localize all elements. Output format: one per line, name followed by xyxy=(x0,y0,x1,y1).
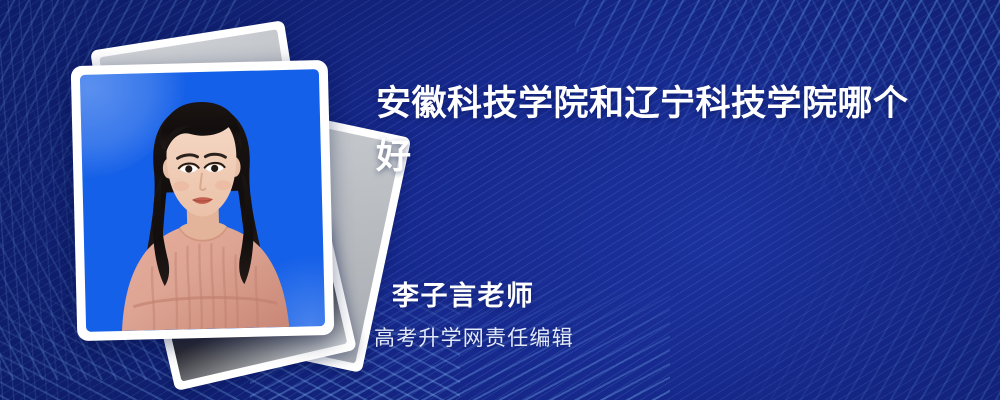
author-photo xyxy=(80,69,325,332)
author-photo-card xyxy=(71,60,335,341)
photo-card-stack xyxy=(46,22,346,367)
author-name: 李子言老师 xyxy=(392,274,535,313)
author-role: 高考升学网责任编辑 xyxy=(374,322,574,352)
avatar xyxy=(80,69,325,332)
article-headline: 安徽科技学院和辽宁科技学院哪个好 xyxy=(376,78,936,184)
text-column: 安徽科技学院和辽宁科技学院哪个好 李子言老师 高考升学网责任编辑 xyxy=(376,0,976,400)
article-cover-banner: 安徽科技学院和辽宁科技学院哪个好 李子言老师 高考升学网责任编辑 xyxy=(0,0,1000,400)
